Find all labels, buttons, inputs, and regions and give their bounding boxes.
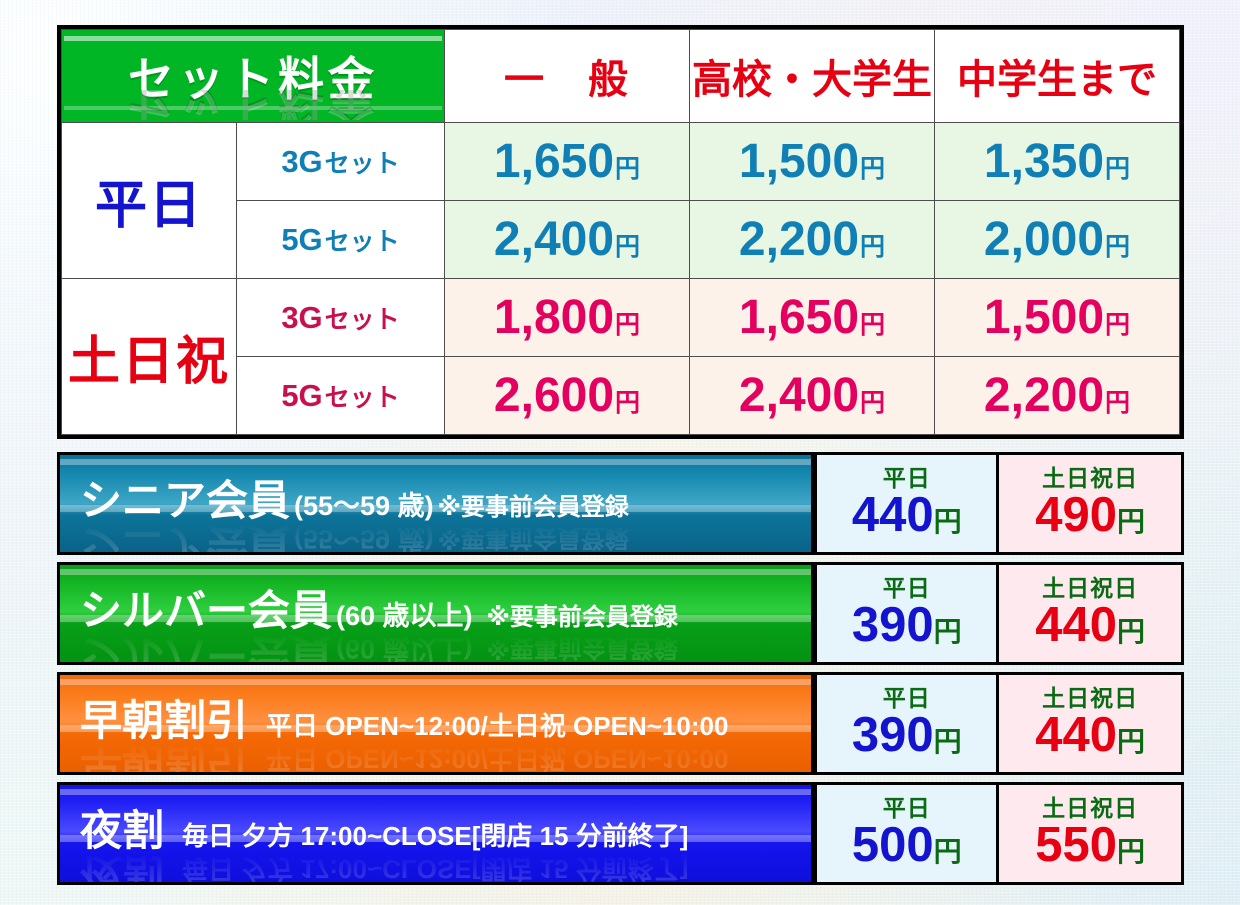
offer-note: ※要事前会員登録 [438,487,629,522]
offer-subtitle: (60 歳以上) [336,594,473,633]
banner-sheen-top [60,789,811,795]
set-price-title-cell: セット料金 セット料金 [62,30,445,123]
offer-row-early-morning: 早朝割引平日 OPEN~12:00/土日祝 OPEN~10:00 早朝割引平日 … [57,672,1184,775]
price-box-unit: 円 [1117,726,1145,757]
offer-title: シルバー会員 [80,577,332,638]
price-box-label: 平日 [883,687,931,710]
offer-price-weekend-senior: 土日祝日 490円 [999,452,1184,555]
offer-banner-early-morning: 早朝割引平日 OPEN~12:00/土日祝 OPEN~10:00 早朝割引平日 … [57,672,814,775]
set-price-title-reflection: セット料金 [62,90,444,120]
price-amount: 1,650 [494,135,614,188]
offer-row-silver: シルバー会員(60 歳以上)※要事前会員登録 シルバー会員(60 歳以上)※要事… [57,562,1184,665]
price-box-amount: 390 [852,708,934,762]
offer-price-weekend-early-morning: 土日祝日 440円 [999,672,1184,775]
set-name-prefix: 3G [281,300,322,335]
day-label-weekend: 土日祝 [62,279,237,435]
price-unit: 円 [860,233,885,261]
price-box-amount: 390 [852,598,934,652]
price-box-value: 390円 [852,601,962,649]
price-amount: 2,600 [494,369,614,422]
price-weekday-3g-junior: 1,350円 [935,123,1180,201]
column-header-juniorhigh-and-under: 中学生まで [935,30,1180,123]
price-box-unit: 円 [1117,616,1145,647]
price-box-amount: 550 [1035,818,1117,872]
price-unit: 円 [1105,155,1130,183]
offer-subtitle: (55〜59 歳) [294,484,434,523]
price-box-unit: 円 [934,506,962,537]
offer-banner-text: 早朝割引平日 OPEN~12:00/土日祝 OPEN~10:00 [80,687,728,748]
banner-sheen-top [60,459,811,465]
price-unit: 円 [860,311,885,339]
offer-subtitle: 平日 OPEN~12:00/土日祝 OPEN~10:00 [266,706,728,743]
table-row: 土日祝 3Gセット 1,800円 1,650円 1,500円 [62,279,1180,357]
price-box-amount: 500 [852,818,934,872]
price-weekday-3g-general: 1,650円 [445,123,690,201]
price-box-label: 平日 [883,797,931,820]
set-name-weekend-5g: 5Gセット [237,357,445,435]
price-amount: 1,650 [739,291,859,344]
set-name-weekend-3g: 3Gセット [237,279,445,357]
offer-row-night: 夜割毎日 夕方 17:00~CLOSE[閉店 15 分前終了] 夜割毎日 夕方 … [57,782,1184,885]
set-name-prefix: 3G [281,144,322,179]
price-unit: 円 [615,233,640,261]
offer-price-weekday-early-morning: 平日 390円 [814,672,999,775]
offer-row-senior: シニア会員(55〜59 歳)※要事前会員登録 シニア会員(55〜59 歳)※要事… [57,452,1184,555]
price-box-label: 土日祝日 [1042,687,1138,710]
offer-title: 夜割 [80,797,164,858]
offer-banner-night: 夜割毎日 夕方 17:00~CLOSE[閉店 15 分前終了] 夜割毎日 夕方 … [57,782,814,885]
price-box-amount: 440 [1035,708,1117,762]
set-name-suffix: セット [325,228,400,256]
day-label-weekday: 平日 [62,123,237,279]
price-amount: 2,400 [494,213,614,266]
set-name-suffix: セット [325,150,400,178]
price-box-unit: 円 [1117,506,1145,537]
price-amount: 1,800 [494,291,614,344]
price-unit: 円 [860,155,885,183]
offer-banner-text: 夜割毎日 夕方 17:00~CLOSE[閉店 15 分前終了] [80,797,688,858]
price-box-value: 440円 [1035,601,1145,649]
offer-title: シニア会員 [80,467,290,528]
set-name-prefix: 5G [281,378,322,413]
set-name-weekday-3g: 3Gセット [237,123,445,201]
price-box-unit: 円 [934,726,962,757]
offer-banner-senior: シニア会員(55〜59 歳)※要事前会員登録 シニア会員(55〜59 歳)※要事… [57,452,814,555]
price-unit: 円 [860,389,885,417]
price-unit: 円 [615,389,640,417]
price-weekday-3g-student: 1,500円 [690,123,935,201]
set-name-suffix: セット [325,384,400,412]
price-weekend-3g-general: 1,800円 [445,279,690,357]
price-box-unit: 円 [1117,836,1145,867]
offer-price-weekend-silver: 土日祝日 440円 [999,562,1184,665]
price-weekend-3g-junior: 1,500円 [935,279,1180,357]
price-weekend-5g-junior: 2,200円 [935,357,1180,435]
price-box-label: 土日祝日 [1042,797,1138,820]
price-weekday-5g-general: 2,400円 [445,201,690,279]
price-weekday-5g-junior: 2,000円 [935,201,1180,279]
price-box-label: 平日 [883,577,931,600]
offer-banner-silver: シルバー会員(60 歳以上)※要事前会員登録 シルバー会員(60 歳以上)※要事… [57,562,814,665]
table-row: 平日 3Gセット 1,650円 1,500円 1,350円 [62,123,1180,201]
offer-subtitle: 毎日 夕方 17:00~CLOSE[閉店 15 分前終了] [182,816,688,853]
banner-sheen-top [60,679,811,685]
set-name-weekday-5g: 5Gセット [237,201,445,279]
price-box-label: 平日 [883,467,931,490]
set-price-table: セット料金 セット料金 一 般 高校・大学生 中学生まで 平日 3Gセット 1,… [57,25,1184,439]
price-list-page: セット料金 セット料金 一 般 高校・大学生 中学生まで 平日 3Gセット 1,… [0,0,1240,905]
price-box-amount: 490 [1035,488,1117,542]
price-box-label: 土日祝日 [1042,467,1138,490]
price-weekend-5g-general: 2,600円 [445,357,690,435]
offer-title: 早朝割引 [80,687,248,748]
price-box-value: 440円 [852,491,962,539]
price-weekend-5g-student: 2,400円 [690,357,935,435]
price-box-value: 490円 [1035,491,1145,539]
discount-offers-section: シニア会員(55〜59 歳)※要事前会員登録 シニア会員(55〜59 歳)※要事… [57,452,1184,895]
price-amount: 2,200 [739,213,859,266]
price-amount: 1,500 [739,135,859,188]
set-name-prefix: 5G [281,222,322,257]
offer-price-weekday-senior: 平日 440円 [814,452,999,555]
offer-price-weekday-silver: 平日 390円 [814,562,999,665]
price-unit: 円 [1105,389,1130,417]
offer-banner-text: シニア会員(55〜59 歳)※要事前会員登録 [80,467,629,528]
offer-price-weekday-night: 平日 500円 [814,782,999,885]
column-header-highschool-university: 高校・大学生 [690,30,935,123]
title-glow-top [64,36,442,41]
price-box-value: 390円 [852,711,962,759]
price-box-amount: 440 [852,488,934,542]
price-box-value: 550円 [1035,821,1145,869]
offer-note: ※要事前会員登録 [487,597,678,632]
price-box-unit: 円 [934,616,962,647]
price-amount: 2,400 [739,369,859,422]
table-header-row: セット料金 セット料金 一 般 高校・大学生 中学生まで [62,30,1180,123]
price-amount: 1,500 [984,291,1104,344]
price-amount: 2,000 [984,213,1104,266]
price-box-value: 500円 [852,821,962,869]
price-unit: 円 [1105,311,1130,339]
offer-price-weekend-night: 土日祝日 550円 [999,782,1184,885]
price-unit: 円 [615,311,640,339]
column-header-general: 一 般 [445,30,690,123]
offer-banner-text: シルバー会員(60 歳以上)※要事前会員登録 [80,577,678,638]
price-unit: 円 [1105,233,1130,261]
price-box-amount: 440 [1035,598,1117,652]
set-name-suffix: セット [325,306,400,334]
banner-sheen-top [60,569,811,575]
price-box-value: 440円 [1035,711,1145,759]
price-amount: 2,200 [984,369,1104,422]
price-weekday-5g-student: 2,200円 [690,201,935,279]
price-box-unit: 円 [934,836,962,867]
price-amount: 1,350 [984,135,1104,188]
price-weekend-3g-student: 1,650円 [690,279,935,357]
price-unit: 円 [615,155,640,183]
price-box-label: 土日祝日 [1042,577,1138,600]
